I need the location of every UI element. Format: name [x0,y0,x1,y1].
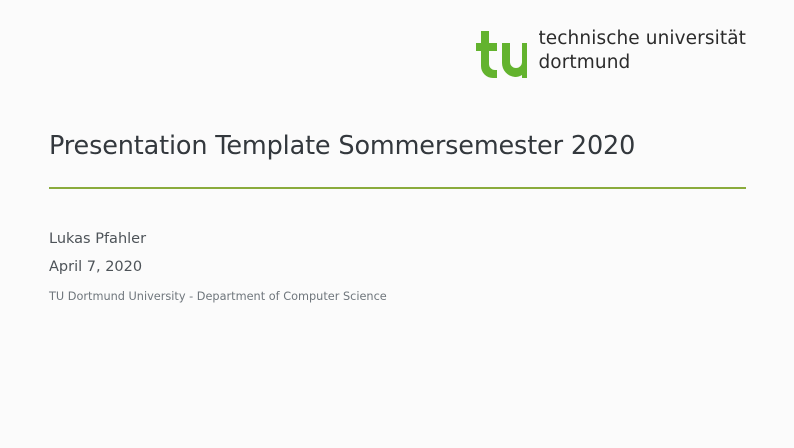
author-name: Lukas Pfahler [49,231,387,247]
presentation-date: April 7, 2020 [49,259,387,275]
university-logo: technische universität dortmund [473,27,746,79]
university-wordmark: technische universität dortmund [538,27,746,72]
page-title: Presentation Template Sommersemester 202… [49,131,635,161]
tu-dortmund-logo-icon [473,31,527,79]
presentation-title-slide: technische universität dortmund Presenta… [0,0,794,448]
title-metadata: Lukas Pfahler April 7, 2020 TU Dortmund … [49,231,387,303]
institute-affiliation: TU Dortmund University - Department of C… [49,290,387,303]
title-divider [49,187,746,189]
wordmark-line-2: dortmund [538,54,746,73]
wordmark-line-1: technische universität [538,30,746,49]
